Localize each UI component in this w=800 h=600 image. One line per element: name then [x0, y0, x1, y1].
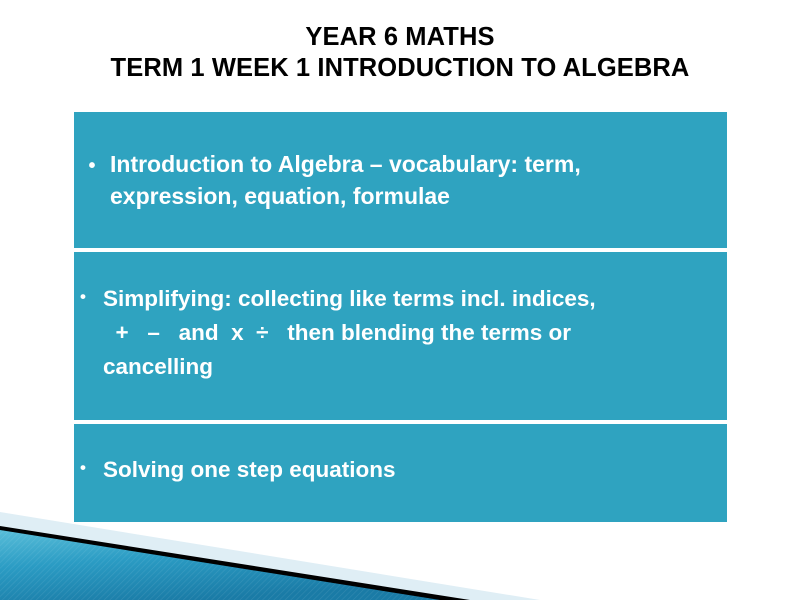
- bullet-1-line-1: Introduction to Algebra – vocabulary: te…: [110, 148, 727, 180]
- content-block-2: • Simplifying: collecting like terms inc…: [74, 252, 727, 420]
- bullet-item-1: • Introduction to Algebra – vocabulary: …: [74, 112, 727, 212]
- bullet-2-line-2: + – and x ÷ then blending the terms or: [103, 316, 727, 350]
- bullet-text-2: Simplifying: collecting like terms incl.…: [103, 282, 727, 384]
- decor-pale-strip: [0, 512, 540, 600]
- slide-canvas: YEAR 6 MATHS TERM 1 WEEK 1 INTRODUCTION …: [0, 0, 800, 600]
- bullet-3-line-1: Solving one step equations: [103, 454, 727, 486]
- bullet-dot-icon: •: [74, 282, 103, 305]
- decor-black-stripe: [0, 526, 470, 600]
- bullet-2-line-3: cancelling: [103, 350, 727, 384]
- bullet-2-line-1: Simplifying: collecting like terms incl.…: [103, 282, 727, 316]
- bullet-dot-icon: •: [74, 454, 103, 476]
- bullet-text-3: Solving one step equations: [103, 454, 727, 486]
- decor-teal-texture: [0, 530, 440, 600]
- bullet-dot-icon: •: [74, 148, 110, 176]
- content-block-3: • Solving one step equations: [74, 424, 727, 522]
- title-line-2: TERM 1 WEEK 1 INTRODUCTION TO ALGEBRA: [0, 53, 800, 84]
- title-line-1: YEAR 6 MATHS: [0, 22, 800, 53]
- bullet-item-3: • Solving one step equations: [74, 424, 727, 486]
- bullet-item-2: • Simplifying: collecting like terms inc…: [74, 252, 727, 384]
- page-title: YEAR 6 MATHS TERM 1 WEEK 1 INTRODUCTION …: [0, 22, 800, 84]
- content-block-1: • Introduction to Algebra – vocabulary: …: [74, 112, 727, 248]
- decor-teal-triangle: [0, 530, 440, 600]
- bullet-1-line-2: expression, equation, formulae: [110, 180, 727, 212]
- content-panel: • Introduction to Algebra – vocabulary: …: [74, 112, 727, 522]
- bullet-text-1: Introduction to Algebra – vocabulary: te…: [110, 148, 727, 212]
